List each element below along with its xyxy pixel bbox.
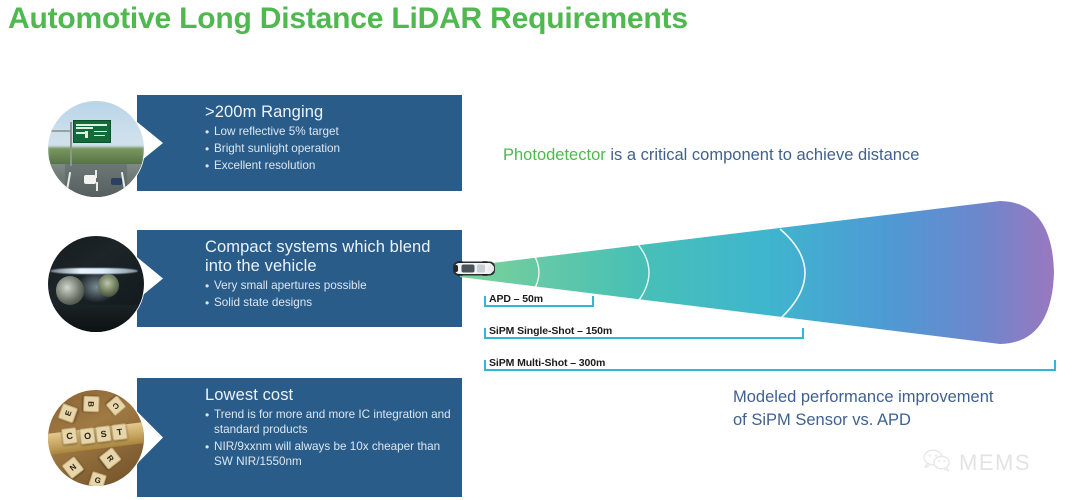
caption-line-2: of SiPM Sensor vs. APD: [733, 409, 993, 432]
list-item: Trend is for more and more IC integratio…: [205, 408, 452, 438]
headline-rest: is a critical component to achieve dista…: [606, 146, 920, 164]
feature-bullet-list: Trend is for more and more IC integratio…: [205, 408, 452, 470]
feature-banner: Compact systems which blend into the veh…: [137, 230, 462, 327]
slide-canvas: Automotive Long Distance LiDAR Requireme…: [0, 0, 1080, 500]
range-bar-cap-left: [484, 328, 486, 339]
list-item: Very small apertures possible: [205, 279, 452, 294]
feature-heading: Compact systems which blend into the veh…: [205, 238, 452, 276]
range-bar-label: SiPM Multi-Shot – 300m: [489, 357, 605, 369]
car-top-view: [452, 258, 498, 279]
range-bar-cap-right: [1054, 360, 1056, 371]
scrabble-tiles-cost-photo: E B C C O S T R N G: [48, 390, 144, 486]
range-bar-apd: APD – 50m: [484, 291, 594, 307]
range-bar-sipm-single-shot: SiPM Single-Shot – 150m: [484, 323, 804, 339]
feature-banner: Lowest cost Trend is for more and more I…: [137, 378, 462, 497]
highway-road-sign-photo: [48, 101, 144, 197]
headline-highlight: Photodetector: [503, 146, 606, 164]
caption-line-1: Modeled performance improvement: [733, 386, 993, 409]
watermark-text: MEMS: [959, 450, 1031, 476]
feature-heading: >200m Ranging: [205, 103, 452, 122]
range-bar-cap-right: [592, 296, 594, 307]
page-title: Automotive Long Distance LiDAR Requireme…: [8, 2, 688, 36]
range-bar-label: SiPM Single-Shot – 150m: [489, 325, 612, 337]
feature-banner: >200m Ranging Low reflective 5% target B…: [137, 95, 462, 191]
range-bar-cap-right: [802, 328, 804, 339]
range-bar-cap-left: [484, 360, 486, 371]
photodetector-headline: Photodetector is a critical component to…: [503, 146, 919, 165]
list-item: Low reflective 5% target: [205, 125, 452, 140]
vehicle-headlight-sensor-photo: [48, 236, 144, 332]
feature-bullet-list: Very small apertures possible Solid stat…: [205, 279, 452, 311]
list-item: NIR/9xxnm will always be 10x cheaper tha…: [205, 440, 452, 470]
range-bar-sipm-multi-shot: SiPM Multi-Shot – 300m: [484, 355, 1056, 371]
list-item: Excellent resolution: [205, 159, 452, 174]
wechat-icon: [922, 448, 952, 477]
range-bar-line: [484, 337, 804, 339]
feature-heading: Lowest cost: [205, 386, 452, 405]
list-item: Bright sunlight operation: [205, 142, 452, 157]
chart-caption: Modeled performance improvement of SiPM …: [733, 386, 993, 433]
range-bar-cap-left: [484, 296, 486, 307]
range-bar-label: APD – 50m: [489, 293, 543, 305]
range-bar-line: [484, 369, 1056, 371]
range-bar-line: [484, 305, 594, 307]
list-item: Solid state designs: [205, 296, 452, 311]
feature-bullet-list: Low reflective 5% target Bright sunlight…: [205, 125, 452, 174]
watermark: MEMS: [922, 448, 1031, 477]
